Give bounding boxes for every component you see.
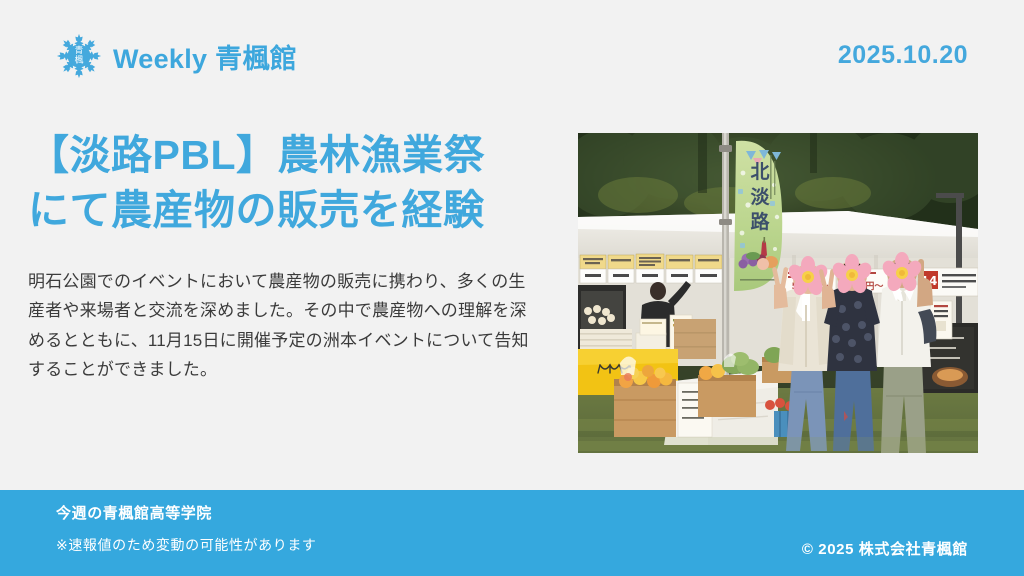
seifukan-snowflake-crest-icon: 青 楓 bbox=[56, 33, 102, 79]
brand-title: Weekly 青楓館 bbox=[113, 37, 297, 76]
slide-footer: 今週の青楓館高等学院 ※速報値のため変動の可能性があります © 2025 株式会… bbox=[0, 490, 1024, 576]
event-photo: 北 淡 路 bbox=[578, 133, 978, 453]
svg-text:淡: 淡 bbox=[750, 186, 770, 208]
footer-title: 今週の青楓館高等学院 bbox=[56, 503, 317, 526]
svg-text:北: 北 bbox=[750, 161, 769, 183]
footer-left-block: 今週の青楓館高等学院 ※速報値のため変動の可能性があります bbox=[56, 503, 317, 556]
issue-date: 2025.10.20 bbox=[838, 41, 968, 70]
article-body: 明石公園でのイベントにおいて農産物の販売に携わり、多くの生産者や来場者と交流を深… bbox=[28, 267, 540, 384]
page-title: 【淡路PBL】農林漁業祭 にて農産物の販売を経験 bbox=[28, 128, 558, 237]
copyright-text: © 2025 株式会社青楓館 bbox=[802, 538, 968, 559]
svg-text:楓: 楓 bbox=[75, 53, 84, 65]
brand-lockup: 青 楓 Weekly 青楓館 bbox=[56, 33, 297, 79]
footer-note: ※速報値のため変動の可能性があります bbox=[56, 535, 317, 556]
headline-line-1: 【淡路PBL】農林漁業祭 bbox=[28, 128, 558, 183]
slide-header: 青 楓 Weekly 青楓館 2025.10.20 bbox=[0, 0, 1024, 110]
slide-root: 青 楓 Weekly 青楓館 2025.10.20 【淡路PBL】農林漁業祭 に… bbox=[0, 0, 1024, 576]
headline-line-2: にて農産物の販売を経験 bbox=[28, 183, 558, 238]
svg-text:青: 青 bbox=[75, 44, 84, 56]
svg-text:路: 路 bbox=[750, 210, 770, 233]
article-copy: 【淡路PBL】農林漁業祭 にて農産物の販売を経験 明石公園でのイベントにおいて農… bbox=[28, 128, 558, 384]
slide-main: 【淡路PBL】農林漁業祭 にて農産物の販売を経験 明石公園でのイベントにおいて農… bbox=[0, 110, 1024, 490]
